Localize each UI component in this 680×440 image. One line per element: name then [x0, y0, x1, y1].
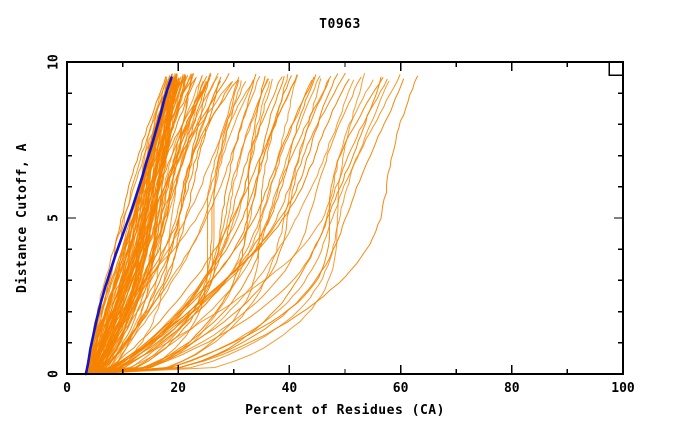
- x-axis-title: Percent of Residues (CA): [245, 403, 445, 418]
- y-tick-label: 10: [47, 54, 62, 70]
- x-tick-label: 40: [282, 381, 298, 396]
- y-tick-label: 0: [47, 370, 62, 378]
- y-axis-title: Distance Cutoff, A: [15, 143, 30, 293]
- plot-canvas: T0963 0204060801000510 Percent of Residu…: [0, 0, 680, 440]
- x-tick-label: 20: [170, 381, 186, 396]
- x-tick-label: 60: [393, 381, 409, 396]
- x-tick-label: 80: [504, 381, 520, 396]
- x-tick-label: 100: [611, 381, 635, 396]
- chart-container: T0963 0204060801000510 Percent of Residu…: [0, 0, 680, 440]
- chart-title: T0963: [319, 17, 361, 32]
- y-tick-label: 5: [47, 214, 62, 222]
- x-tick-label: 0: [63, 381, 71, 396]
